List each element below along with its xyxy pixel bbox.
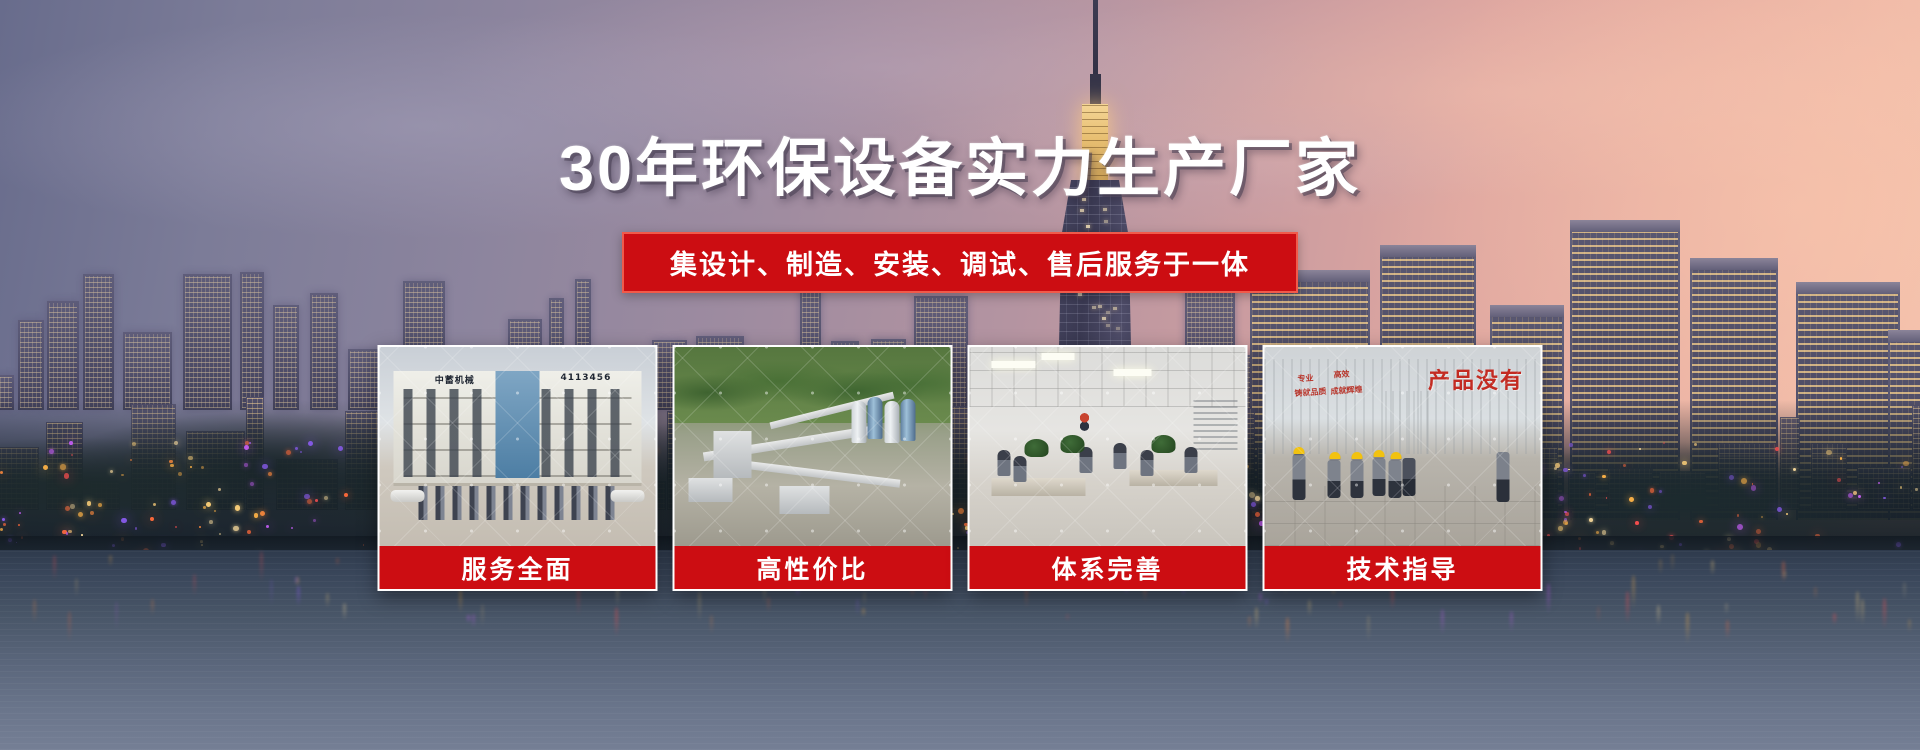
person <box>1185 447 1198 473</box>
city-light-dot <box>0 528 3 531</box>
city-light-dot <box>324 496 328 500</box>
water-reflection <box>1659 559 1662 574</box>
city-light-dot <box>1775 447 1779 451</box>
city-light-dot <box>190 466 192 468</box>
city-light-dot <box>1752 483 1754 485</box>
city-light-dot <box>1596 531 1599 534</box>
card-label: 体系完善 <box>970 546 1246 589</box>
card-photo-1: 中蓄机械 4113456 <box>380 347 656 546</box>
city-light-dot <box>64 473 70 479</box>
supervisor <box>1496 452 1509 502</box>
city-light-dot <box>1607 450 1611 454</box>
city-light-dot <box>1639 448 1641 450</box>
city-light-dot <box>121 474 123 476</box>
city-light-dot <box>1858 495 1861 498</box>
city-light-dot <box>2 518 5 521</box>
water-reflection <box>336 558 339 566</box>
city-light-dot <box>1559 496 1564 501</box>
hard-hat-icon <box>1351 452 1362 459</box>
city-light-dot <box>70 504 75 509</box>
city-light-dot <box>249 442 251 444</box>
water-reflection <box>856 599 859 616</box>
city-light-dot <box>209 520 213 524</box>
feature-card[interactable]: 产品没有 专业 高效 铸就品质 成就辉煌 <box>1263 345 1543 591</box>
city-light-dot <box>135 527 137 529</box>
water-reflection <box>863 592 866 606</box>
city-light-dot <box>1663 442 1665 444</box>
page-title: 30年环保设备实力生产厂家 <box>0 118 1920 209</box>
city-light-dot <box>206 502 211 507</box>
city-light-dot <box>1900 486 1903 489</box>
city-light-dot <box>178 472 182 476</box>
worker <box>1372 458 1385 496</box>
water-reflection <box>467 615 470 624</box>
person <box>1014 456 1027 482</box>
city-light-dot <box>49 449 54 454</box>
water-reflection <box>1814 587 1817 600</box>
factory-slogan-small: 高效 <box>1333 368 1350 380</box>
city-light-dot <box>1659 490 1662 493</box>
window-light <box>1078 293 1082 296</box>
city-light-dot <box>121 518 126 523</box>
city-light-dot <box>1915 488 1917 490</box>
window-light <box>1092 306 1096 309</box>
city-light-dot <box>244 445 249 450</box>
city-light-dot <box>1786 513 1788 515</box>
water-reflection <box>710 615 713 635</box>
city-light-dot <box>1793 468 1796 471</box>
water-reflection <box>326 593 329 608</box>
city-light-dot <box>87 501 92 506</box>
tower-rooftop <box>1380 245 1476 258</box>
water-reflection <box>1671 554 1674 572</box>
water-reflection <box>1908 619 1911 633</box>
silo <box>901 399 916 441</box>
silo <box>851 401 866 443</box>
person <box>1141 450 1154 476</box>
feature-card[interactable]: 体系完善 <box>968 345 1248 591</box>
city-light-dot <box>1737 514 1739 516</box>
city-light-dot <box>132 442 136 446</box>
water-reflection <box>1883 598 1886 631</box>
city-light-dot <box>153 503 156 506</box>
city-light-dot <box>1878 482 1880 484</box>
city-light-dot <box>308 441 313 446</box>
city-light-dot <box>1694 443 1697 446</box>
water-reflection <box>1726 620 1729 641</box>
factory-slogan-text: 产品没有 <box>1428 363 1524 395</box>
city-light-dot <box>262 464 267 469</box>
plant-tower <box>713 431 752 479</box>
water-reflection <box>1339 601 1342 610</box>
city-light-dot <box>174 441 178 445</box>
city-light-dot <box>266 525 270 529</box>
potted-plant <box>1152 435 1176 453</box>
city-light-dot <box>315 499 318 502</box>
water-reflection <box>270 579 273 608</box>
city-light-dot <box>1853 491 1857 495</box>
parked-car <box>391 490 425 502</box>
city-light-dot <box>214 510 216 512</box>
water-reflection <box>109 555 112 568</box>
city-light-dot <box>1558 526 1563 531</box>
city-light-dot <box>71 454 73 456</box>
water-reflection <box>260 551 263 583</box>
city-light-dot <box>1761 516 1763 518</box>
water-reflection <box>1833 613 1836 625</box>
water-reflection <box>193 574 196 598</box>
city-light-dot <box>3 523 6 526</box>
tower-rooftop <box>1570 220 1680 233</box>
window-light <box>1104 220 1108 223</box>
city-light-dot <box>295 447 298 450</box>
city-light-dot <box>291 527 293 529</box>
aerial-plant-illustration <box>675 347 951 546</box>
water-reflection <box>1308 600 1311 617</box>
hard-hat-icon <box>1390 452 1401 459</box>
water-reflection <box>1856 591 1859 624</box>
water-reflection <box>862 608 865 617</box>
city-light-dot <box>1848 493 1853 498</box>
factory-slogan-small: 铸就品质 <box>1295 386 1328 399</box>
water-reflection <box>1547 583 1550 615</box>
conveyor-belt <box>741 461 901 488</box>
worker <box>1350 460 1363 498</box>
city-light-dot <box>188 456 192 460</box>
city-light-dot <box>199 526 201 528</box>
water-reflection <box>1626 591 1629 625</box>
city-light-dot <box>169 460 172 463</box>
window-blinds <box>1193 399 1237 451</box>
building-sign-text: 中蓄机械 <box>435 373 475 386</box>
city-light-dot <box>286 450 291 455</box>
city-light-dot <box>110 470 113 473</box>
city-light-dot <box>1756 529 1761 534</box>
workshop-illustration: 产品没有 专业 高效 铸就品质 成就辉煌 <box>1265 347 1541 546</box>
city-light-dot <box>1589 518 1593 522</box>
staff-lineup <box>418 486 617 520</box>
city-light-dot <box>19 512 21 514</box>
hard-hat-icon <box>1374 450 1385 457</box>
city-light-dot <box>1569 443 1573 447</box>
water-reflection <box>1255 607 1258 630</box>
city-light-dot <box>1883 497 1885 499</box>
building-phone-text: 4113456 <box>561 373 612 383</box>
card-photo-3 <box>970 347 1246 546</box>
city-light-dot <box>1606 497 1608 499</box>
city-light-dot <box>69 441 73 445</box>
window-light <box>1113 307 1117 310</box>
city-light-dot <box>1629 497 1634 502</box>
subtitle-badge: 集设计、制造、安装、调试、售后服务于一体 <box>622 232 1298 293</box>
water-reflection <box>1711 560 1714 576</box>
city-light-dot <box>1699 520 1702 523</box>
worker <box>1389 460 1402 498</box>
city-light-dot <box>1648 505 1652 509</box>
city-light-dot <box>90 511 94 515</box>
tower-rooftop <box>1490 305 1564 318</box>
city-light-dot <box>1840 457 1843 460</box>
city-light-dot <box>1737 524 1743 530</box>
city-light-dot <box>203 506 206 509</box>
water-reflection <box>1286 617 1289 645</box>
worker <box>1403 458 1416 496</box>
card-label: 服务全面 <box>380 546 656 589</box>
city-light-dot <box>247 530 251 534</box>
city-light-dot <box>1903 461 1908 466</box>
city-light-dot <box>175 526 177 528</box>
water-reflection <box>1657 605 1660 626</box>
city-light-dot <box>233 526 238 531</box>
parked-car <box>610 490 644 502</box>
window-light <box>1080 209 1084 212</box>
tower-rooftop <box>1690 258 1778 271</box>
city-light-dot <box>1650 488 1654 492</box>
ceiling-light <box>1113 369 1152 376</box>
water-reflection <box>1725 603 1728 615</box>
city-light-dot <box>98 503 102 507</box>
city-light-dot <box>1729 475 1734 480</box>
city-light-dot <box>1589 493 1591 495</box>
water-reflection <box>53 555 56 581</box>
water-reflection <box>615 607 618 638</box>
feature-card[interactable]: 中蓄机械 4113456 服务全面 <box>378 345 658 591</box>
window-light <box>1086 225 1090 228</box>
water-reflection <box>1903 582 1906 601</box>
city-light-dot <box>218 488 221 491</box>
water-reflection <box>151 599 154 615</box>
water-reflection <box>1265 599 1268 606</box>
window-light <box>1106 311 1110 314</box>
factory-door <box>1386 391 1433 455</box>
water-reflection <box>1632 575 1635 610</box>
city-light-dot <box>1682 461 1687 466</box>
plant-shed <box>779 486 829 514</box>
factory-slogan-small: 成就辉煌 <box>1330 384 1363 397</box>
city-light-dot <box>170 464 173 467</box>
city-light-dot <box>219 533 221 535</box>
feature-card-row: 中蓄机械 4113456 服务全面 <box>378 345 1543 591</box>
card-label: 技术指导 <box>1265 546 1541 589</box>
water-reflection <box>75 578 78 598</box>
water-reflection <box>1441 609 1444 636</box>
water-reflection <box>481 604 484 628</box>
city-light-dot <box>0 471 3 474</box>
silo <box>868 397 883 439</box>
hard-hat-icon <box>1329 452 1340 459</box>
city-light-dot <box>1568 469 1570 471</box>
water-reflection <box>459 589 462 615</box>
water-reflection <box>1686 612 1689 645</box>
water-reflection <box>1367 615 1370 643</box>
person <box>997 450 1010 476</box>
building-glass-atrium <box>495 371 539 478</box>
city-light-dot <box>344 493 348 497</box>
city-light-dot <box>171 500 176 505</box>
city-light-dot <box>254 513 258 517</box>
city-light-dot <box>235 505 241 511</box>
headquarters-illustration: 中蓄机械 4113456 <box>380 347 656 546</box>
city-light-dot <box>1602 475 1605 478</box>
city-light-dot <box>338 446 343 451</box>
water-reflection <box>1597 606 1600 624</box>
hero-banner: 30年环保设备实力生产厂家 集设计、制造、安装、调试、售后服务于一体 中蓄机械 … <box>0 0 1920 750</box>
plant-shed <box>688 478 732 502</box>
city-light-dot <box>244 463 247 466</box>
city-light-dot <box>78 512 83 517</box>
water-reflection <box>1783 571 1786 580</box>
water-reflection <box>1248 616 1251 629</box>
city-light-dot <box>260 511 265 516</box>
card-photo-2 <box>675 347 951 546</box>
potted-plant <box>1061 435 1085 453</box>
tower-rooftop <box>1796 282 1900 295</box>
potted-plant <box>1025 439 1049 457</box>
city-light-dot <box>201 466 204 469</box>
ceiling-grid <box>970 347 1246 407</box>
water-reflection <box>1259 593 1262 603</box>
city-light-dot <box>1564 511 1567 514</box>
water-reflection <box>297 586 300 607</box>
ceiling-light <box>1041 353 1074 360</box>
person <box>1113 443 1126 469</box>
city-light-dot <box>250 482 254 486</box>
city-light-dot <box>1751 485 1757 491</box>
water-reflection <box>472 614 475 629</box>
card-label: 高性价比 <box>675 546 951 589</box>
city-light-dot <box>1563 468 1568 473</box>
office-interior-illustration <box>970 347 1246 546</box>
city-light-dot <box>66 532 69 535</box>
ceiling-light <box>992 361 1036 368</box>
silo <box>884 401 899 443</box>
city-light-dot <box>1837 478 1841 482</box>
city-light-dot <box>1635 521 1639 525</box>
water-reflection <box>115 601 118 633</box>
water-reflection <box>1066 614 1069 621</box>
feature-card[interactable]: 高性价比 <box>673 345 953 591</box>
city-light-dot <box>18 524 20 526</box>
worker <box>1328 460 1341 498</box>
city-light-dot <box>1741 478 1747 484</box>
water-reflection <box>68 611 71 643</box>
city-light-dot <box>300 451 302 453</box>
city-light-dot <box>43 465 48 470</box>
water-reflection <box>343 603 346 620</box>
water-reflection <box>1861 599 1864 627</box>
city-light-dot <box>268 472 272 476</box>
city-light-dot <box>130 459 132 461</box>
worker <box>1292 454 1305 500</box>
water-reflection <box>33 599 36 624</box>
city-light-dot <box>1623 464 1626 467</box>
city-light-dot <box>68 530 72 534</box>
water-reflection <box>698 591 701 623</box>
city-light-dot <box>1563 520 1568 525</box>
city-light-dot <box>150 517 154 521</box>
desk <box>992 478 1086 496</box>
city-light-dot <box>60 464 65 469</box>
water-reflection <box>767 597 770 614</box>
city-light-dot <box>1826 450 1832 456</box>
city-light-dot <box>1583 474 1586 477</box>
card-photo-4: 产品没有 专业 高效 铸就品质 成就辉煌 <box>1265 347 1541 546</box>
city-light-dot <box>1602 530 1607 535</box>
city-light-dot <box>313 519 316 522</box>
hard-hat-icon <box>1293 447 1304 454</box>
city-light-dot <box>1777 507 1782 512</box>
water-reflection <box>1510 611 1513 633</box>
city-light-dot <box>307 499 312 504</box>
city-light-dot <box>1901 466 1903 468</box>
factory-slogan-small: 专业 <box>1297 372 1314 384</box>
city-light-dot <box>1555 463 1560 468</box>
wall-logo <box>1069 407 1101 431</box>
window-light <box>1098 305 1102 308</box>
